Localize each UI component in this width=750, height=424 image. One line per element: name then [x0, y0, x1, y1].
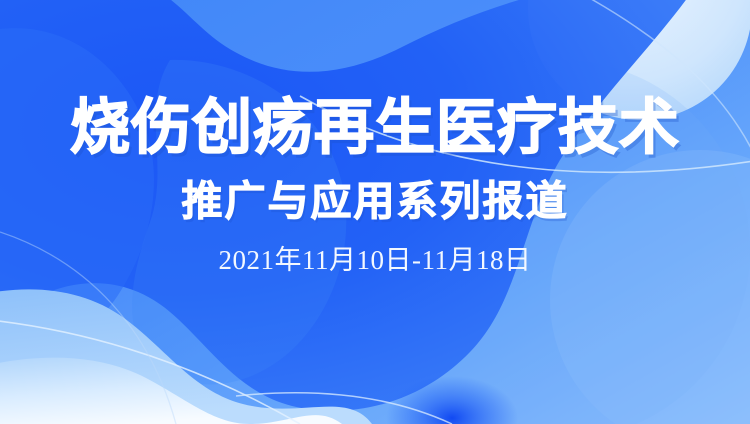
poster-date-range: 2021年11月10日-11月18日	[219, 246, 532, 276]
poster-subtitle: 推广与应用系列报道	[182, 179, 569, 224]
poster-text-block: 烧伤创疡再生医疗技术 推广与应用系列报道 2021年11月10日-11月18日	[0, 0, 750, 424]
banner-poster: 烧伤创疡再生医疗技术 推广与应用系列报道 2021年11月10日-11月18日	[0, 0, 750, 424]
poster-title: 烧伤创疡再生医疗技术	[70, 96, 680, 161]
